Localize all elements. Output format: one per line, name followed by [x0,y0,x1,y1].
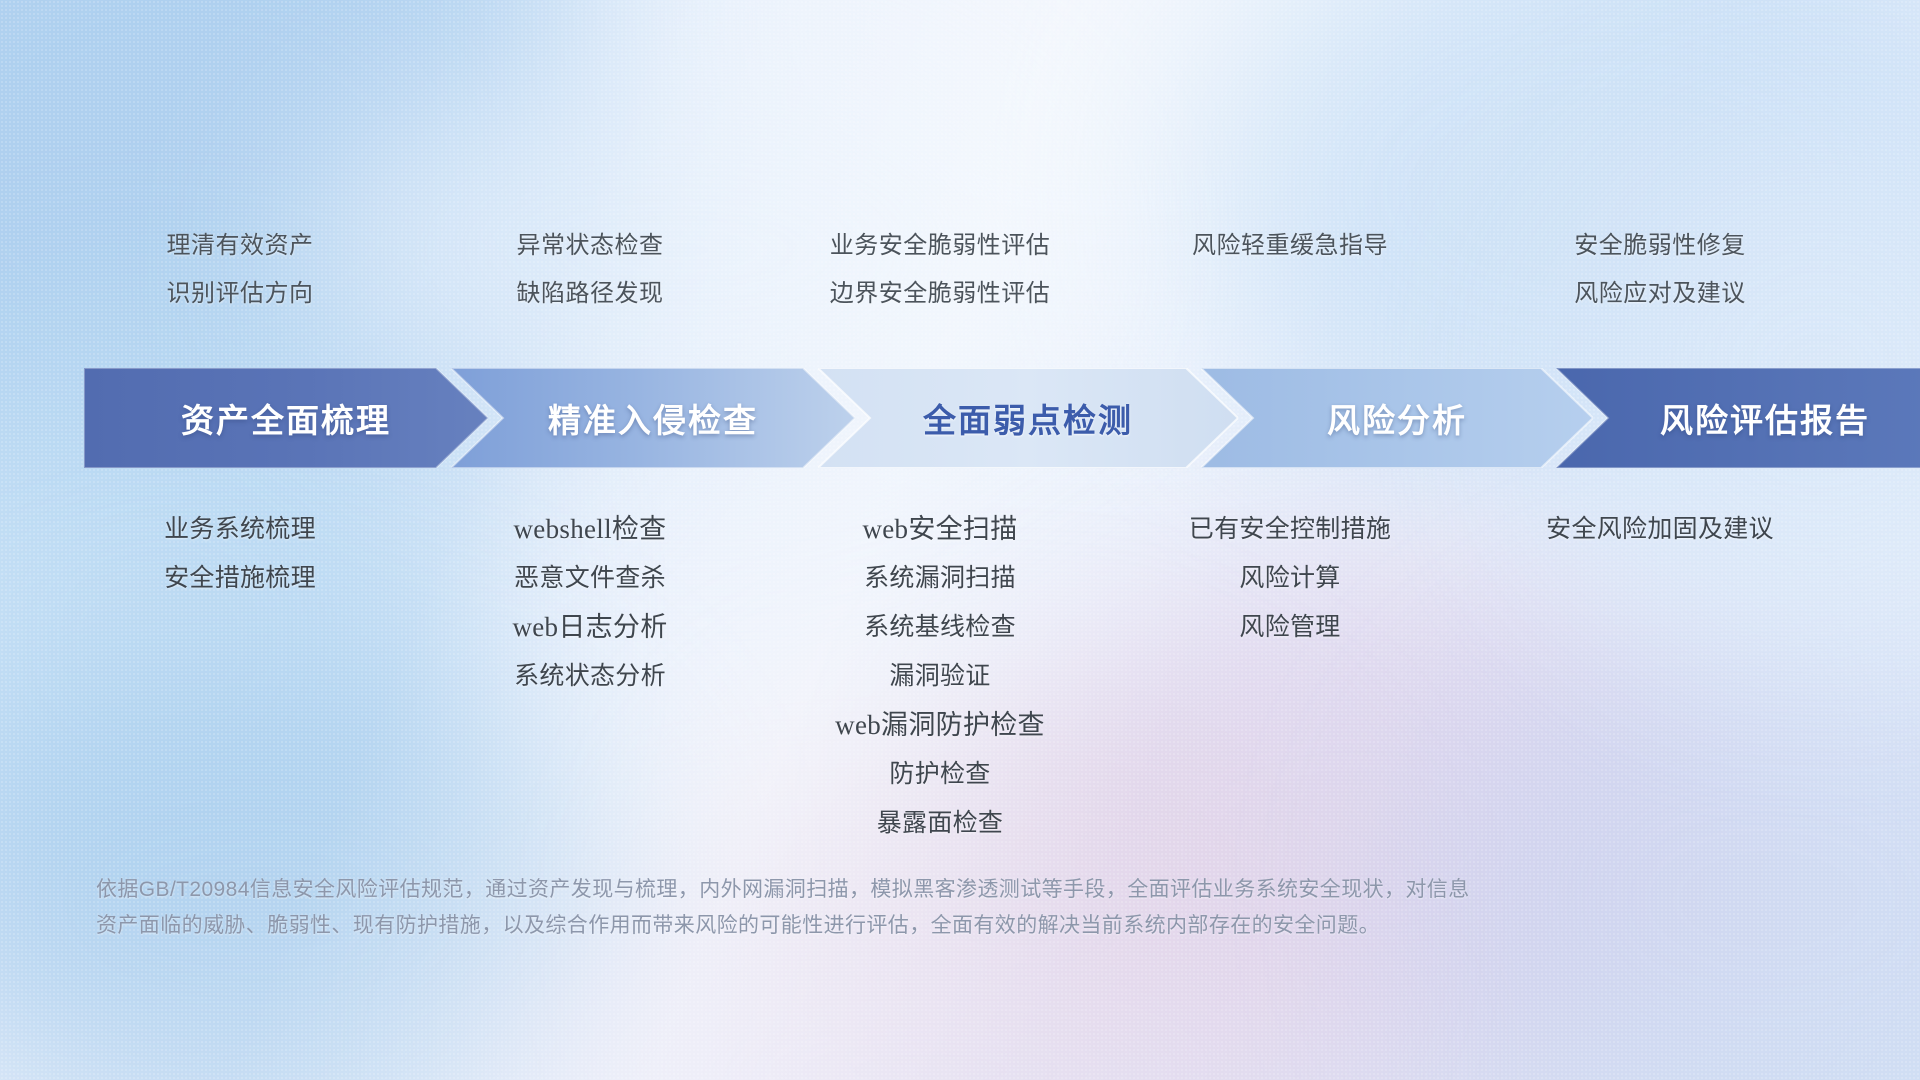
list-item: 风险计算 [1239,554,1340,603]
footer-line-1: 依据GB/T20984信息安全风险评估规范，通过资产发现与梳理，内外网漏洞扫描，… [96,872,1616,908]
list-item: 系统漏洞扫描 [864,554,1016,603]
top-note-text: 风险轻重缓急指导 [1192,222,1388,270]
top-note-text: 风险应对及建议 [1574,270,1746,318]
list-item: 已有安全控制措施 [1189,505,1391,554]
top-note-group-1: 理清有效资产 识别评估方向 [60,222,420,318]
process-diagram: 理清有效资产 识别评估方向 异常状态检查 缺陷路径发现 业务安全脆弱性评估 边界… [0,0,1920,1080]
list-item: web安全扫描 [862,505,1017,554]
top-note-group-5: 安全脆弱性修复 风险应对及建议 [1460,222,1860,318]
list-item: web日志分析 [512,603,667,652]
bottom-list-5: 安全风险加固及建议 [1460,505,1860,554]
footer-description: 依据GB/T20984信息安全风险评估规范，通过资产发现与梳理，内外网漏洞扫描，… [96,872,1616,944]
list-item: 系统状态分析 [514,652,666,701]
list-item: web漏洞防护检查 [835,701,1045,750]
stage-chevron-label: 全面弱点检测 [818,394,1238,442]
top-notes-row: 理清有效资产 识别评估方向 异常状态检查 缺陷路径发现 业务安全脆弱性评估 边界… [60,222,1860,318]
bottom-lists-row: 业务系统梳理 安全措施梳理 webshell检查 恶意文件查杀 web日志分析 … [60,505,1860,848]
top-note-group-2: 异常状态检查 缺陷路径发现 [420,222,760,318]
list-item: webshell检查 [514,505,667,554]
bottom-list-1: 业务系统梳理 安全措施梳理 [60,505,420,603]
bottom-list-4: 已有安全控制措施 风险计算 风险管理 [1120,505,1460,652]
list-item: 业务系统梳理 [164,505,316,554]
top-note-group-3: 业务安全脆弱性评估 边界安全脆弱性评估 [760,222,1120,318]
stage-chevron-4[interactable]: 风险分析 [1201,368,1593,468]
bottom-list-2: webshell检查 恶意文件查杀 web日志分析 系统状态分析 [420,505,760,701]
footer-line-2: 资产面临的威胁、脆弱性、现有防护措施，以及综合作用而带来风险的可能性进行评估，全… [96,908,1616,944]
list-item: 安全风险加固及建议 [1546,505,1774,554]
top-note-text: 识别评估方向 [167,270,314,318]
list-item: 防护检查 [889,750,990,799]
stage-chevron-label: 风险分析 [1201,394,1593,442]
list-item: 恶意文件查杀 [514,554,666,603]
top-note-text: 理清有效资产 [167,222,314,270]
stage-chevron-2[interactable]: 精准入侵检查 [451,368,855,468]
list-item: 风险管理 [1239,603,1340,652]
top-note-text: 业务安全脆弱性评估 [830,222,1051,270]
stage-chevron-1[interactable]: 资产全面梳理 [84,368,488,468]
stage-chevron-5[interactable]: 风险评估报告 [1556,368,1920,468]
list-item: 系统基线检查 [864,603,1016,652]
top-note-text: 边界安全脆弱性评估 [830,270,1051,318]
list-item: 漏洞验证 [889,652,990,701]
stage-chevron-band: 资产全面梳理 精准入侵检查 [84,368,1874,468]
list-item: 安全措施梳理 [164,554,316,603]
stage-chevron-label: 精准入侵检查 [451,394,855,442]
list-item: 暴露面检查 [877,799,1004,848]
stage-chevron-label: 资产全面梳理 [84,394,488,442]
stage-chevron-label: 风险评估报告 [1556,394,1920,442]
top-note-text: 缺陷路径发现 [517,270,664,318]
top-note-text: 安全脆弱性修复 [1574,222,1746,270]
top-note-group-4: 风险轻重缓急指导 [1120,222,1460,270]
bottom-list-3: web安全扫描 系统漏洞扫描 系统基线检查 漏洞验证 web漏洞防护检查 防护检… [760,505,1120,848]
top-note-text: 异常状态检查 [517,222,664,270]
stage-chevron-3[interactable]: 全面弱点检测 [818,368,1238,468]
